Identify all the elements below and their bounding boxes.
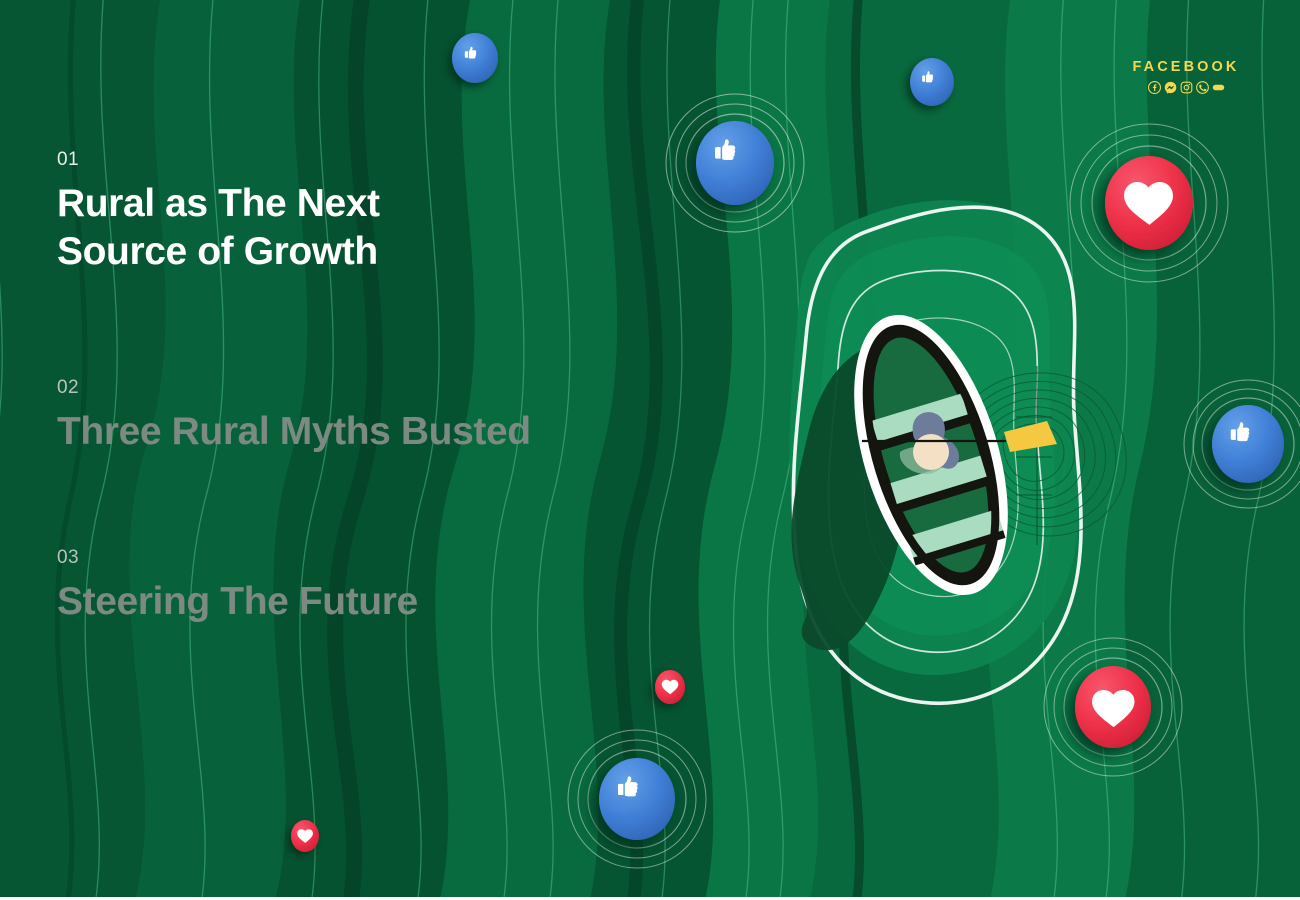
like-reaction-bubble[interactable] [449, 32, 501, 84]
agenda-number-02: 02 [57, 378, 531, 397]
love-reaction-bubble[interactable] [288, 818, 322, 854]
love-reaction-bubble[interactable] [1042, 636, 1184, 778]
whatsapp-icon[interactable] [1196, 81, 1209, 94]
portal-icon[interactable] [1212, 81, 1225, 94]
brand-icon-row [1106, 81, 1266, 94]
like-reaction-bubble[interactable] [906, 56, 958, 108]
like-reaction-bubble[interactable] [664, 92, 806, 234]
agenda-number-01: 01 [57, 150, 380, 169]
facebook-icon[interactable] [1148, 81, 1161, 94]
messenger-icon[interactable] [1164, 81, 1177, 94]
like-reaction-bubble[interactable] [1182, 378, 1300, 510]
brand-lockup: FACEBOOK [1106, 60, 1266, 94]
agenda-item-01[interactable]: 01 Rural as The Next Source of Growth [57, 150, 380, 275]
agenda-title-01: Rural as The Next Source of Growth [57, 180, 380, 275]
love-reaction-bubble[interactable] [1068, 122, 1230, 284]
presentation-slide: 01 Rural as The Next Source of Growth 02… [0, 0, 1300, 900]
like-reaction-bubble[interactable] [566, 728, 708, 870]
facebook-wordmark: FACEBOOK [1106, 60, 1266, 75]
agenda-item-03[interactable]: 03 Steering The Future [57, 548, 418, 626]
love-reaction-bubble[interactable] [652, 668, 688, 706]
agenda-number-03: 03 [57, 548, 418, 567]
agenda-title-03: Steering The Future [57, 578, 418, 626]
agenda-item-02[interactable]: 02 Three Rural Myths Busted [57, 378, 531, 456]
agenda-title-02: Three Rural Myths Busted [57, 408, 531, 456]
instagram-icon[interactable] [1180, 81, 1193, 94]
